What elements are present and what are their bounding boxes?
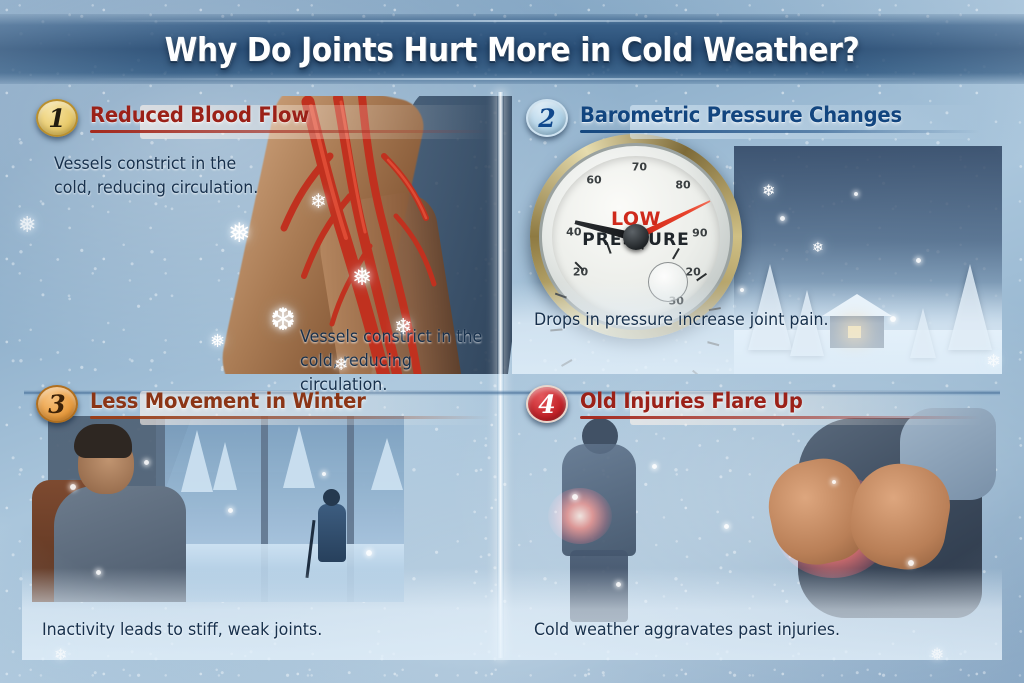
panel-1-lead-text: Vessels constrict in the cold, reducing … bbox=[54, 152, 268, 200]
knee-pain-illustration bbox=[696, 408, 996, 618]
gauge-tick-20: 20 bbox=[573, 265, 588, 278]
back-pain-figure-illustration bbox=[526, 418, 676, 618]
gauge-sub-dial bbox=[648, 262, 688, 302]
gauge-tick-30: 30 bbox=[669, 294, 684, 307]
snowflake-icon: ❅ bbox=[228, 220, 251, 247]
snowflake-icon: ❆ bbox=[270, 304, 296, 335]
snowflake-icon: ❄ bbox=[762, 184, 775, 200]
panel-4-number-badge: 4 bbox=[526, 385, 568, 423]
panel-barometric-pressure: 20 30 40 60 70 80 90 20 LOW PRESSURE bbox=[512, 88, 1002, 374]
back-pain-glow bbox=[548, 488, 612, 544]
cabin-window-light bbox=[848, 326, 861, 338]
panel-3-caption: Inactivity leads to stiff, weak joints. bbox=[42, 618, 322, 642]
panel-1-title: Reduced Blood Flow bbox=[90, 103, 469, 127]
walking-cane bbox=[305, 520, 315, 578]
panel-4-title: Old Injuries Flare Up bbox=[580, 389, 959, 413]
panel-4-header: 4 Old Injuries Flare Up bbox=[526, 384, 988, 424]
panel-1-title-rule bbox=[90, 130, 490, 133]
snowflake-icon: ❅ bbox=[352, 266, 372, 290]
panel-1-number-badge: 1 bbox=[36, 99, 78, 137]
panel-1-header: 1 Reduced Blood Flow bbox=[36, 98, 498, 138]
panel-old-injuries: 4 Old Injuries Flare Up Cold weather agg… bbox=[512, 374, 1002, 660]
panel-1-caption: Vessels constrict in the cold, reducing … bbox=[300, 325, 495, 397]
gauge-low-label: LOW bbox=[611, 208, 661, 230]
walking-person-figure bbox=[318, 504, 346, 562]
armchair bbox=[32, 480, 102, 602]
gauge-tick-70: 70 bbox=[632, 161, 647, 174]
panel-2-title-rule bbox=[580, 130, 980, 133]
panel-2-header: 2 Barometric Pressure Changes bbox=[526, 98, 988, 138]
panel-2-number-badge: 2 bbox=[526, 99, 568, 137]
title-banner: Why Do Joints Hurt More in Cold Weather? bbox=[0, 14, 1024, 84]
panel-4-caption: Cold weather aggravates past injuries. bbox=[534, 618, 840, 642]
window-snow-scene-illustration bbox=[48, 416, 404, 602]
snowflake-icon: ❄ bbox=[310, 192, 327, 212]
page-title: Why Do Joints Hurt More in Cold Weather? bbox=[165, 30, 860, 69]
knee-pain-glow bbox=[774, 474, 892, 578]
gauge-pressure-label: PRESSURE bbox=[582, 230, 689, 250]
gauge-needle-hub bbox=[623, 224, 649, 250]
snowy-cabin-scene-illustration bbox=[734, 146, 1002, 374]
gauge-tick-90: 90 bbox=[692, 227, 707, 240]
panel-4-title-rule bbox=[580, 416, 980, 419]
snowflake-icon: ❅ bbox=[210, 332, 225, 350]
gauge-tick-60: 60 bbox=[586, 174, 601, 187]
panel-3-number-badge: 3 bbox=[36, 385, 78, 423]
panel-less-movement: 3 Less Movement in Winter Inactivity lea… bbox=[22, 374, 512, 660]
panel-2-caption: Drops in pressure increase joint pain. bbox=[534, 308, 829, 332]
panel-grid: 1 Reduced Blood Flow Vessels constrict i… bbox=[22, 88, 1002, 660]
snowflake-icon: ❄ bbox=[812, 240, 824, 254]
seated-person-figure bbox=[54, 486, 186, 602]
gauge-tick-80: 80 bbox=[675, 178, 690, 191]
infographic-canvas: Why Do Joints Hurt More in Cold Weather? bbox=[0, 0, 1024, 683]
gauge-tick-40: 40 bbox=[566, 225, 581, 238]
gauge-red-needle bbox=[633, 197, 712, 240]
panel-3-title-rule bbox=[90, 416, 490, 419]
gauge-black-needle bbox=[574, 217, 638, 241]
gauge-tick-20b: 20 bbox=[685, 265, 700, 278]
panel-2-title: Barometric Pressure Changes bbox=[580, 103, 959, 127]
